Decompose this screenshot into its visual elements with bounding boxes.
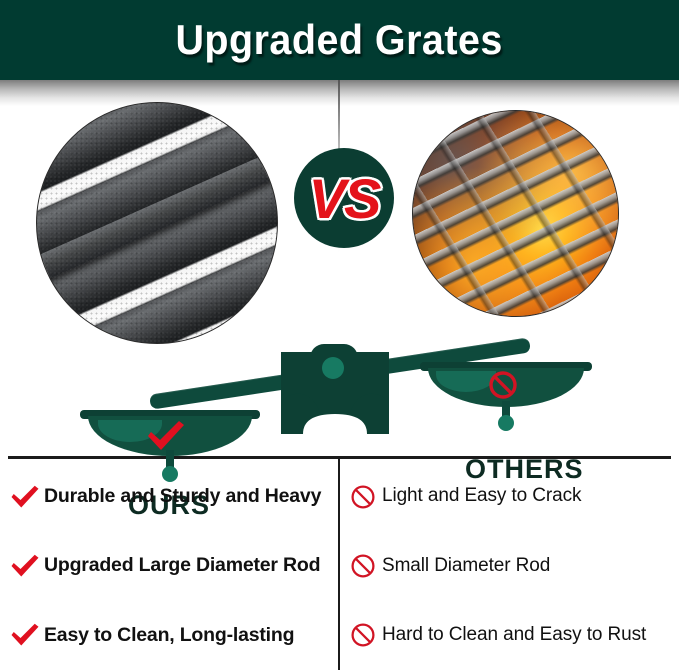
balance-scale: OURS OTHERS (0, 80, 679, 456)
others-feature-label: Small Diameter Rod (382, 556, 550, 577)
table-row: Light and Easy to Crack (339, 462, 678, 531)
red-prohibition-icon (488, 370, 518, 400)
red-check-icon (9, 622, 41, 648)
table-row: Easy to Clean, Long-lasting (0, 601, 339, 670)
ours-feature-column: Durable and Sturdy and Heavy Upgraded La… (0, 462, 339, 670)
ours-feature-label: Durable and Sturdy and Heavy (44, 486, 321, 507)
table-row: Hard to Clean and Easy to Rust (339, 601, 678, 670)
red-prohibition-icon (348, 622, 378, 648)
vs-label: VS (309, 166, 380, 231)
others-feature-label: Hard to Clean and Easy to Rust (382, 625, 646, 646)
page-title: Upgraded Grates (176, 16, 503, 64)
table-row: Small Diameter Rod (339, 531, 678, 600)
red-check-icon (9, 553, 41, 579)
others-pan-knob (498, 415, 514, 431)
scale-base-arch (281, 380, 389, 434)
red-prohibition-icon (348, 553, 378, 579)
others-feature-label: Light and Easy to Crack (382, 486, 581, 507)
red-check-icon (9, 484, 41, 510)
vs-badge: VS (294, 148, 394, 248)
table-row: Upgraded Large Diameter Rod (0, 531, 339, 600)
comparison-stage: VS (0, 80, 679, 456)
others-feature-column: Light and Easy to Crack Small Diameter R… (339, 462, 678, 670)
others-scale-pan (420, 362, 592, 412)
ours-feature-label: Easy to Clean, Long-lasting (44, 625, 294, 646)
ours-pan-knob (162, 466, 178, 482)
ours-scale-pan (80, 410, 260, 462)
feature-comparison-table: Durable and Sturdy and Heavy Upgraded La… (0, 462, 679, 670)
red-check-icon (146, 420, 186, 452)
red-prohibition-icon (348, 484, 378, 510)
scale-pivot (322, 357, 344, 379)
header-banner: Upgraded Grates (0, 0, 679, 80)
ours-feature-label: Upgraded Large Diameter Rod (44, 555, 320, 576)
